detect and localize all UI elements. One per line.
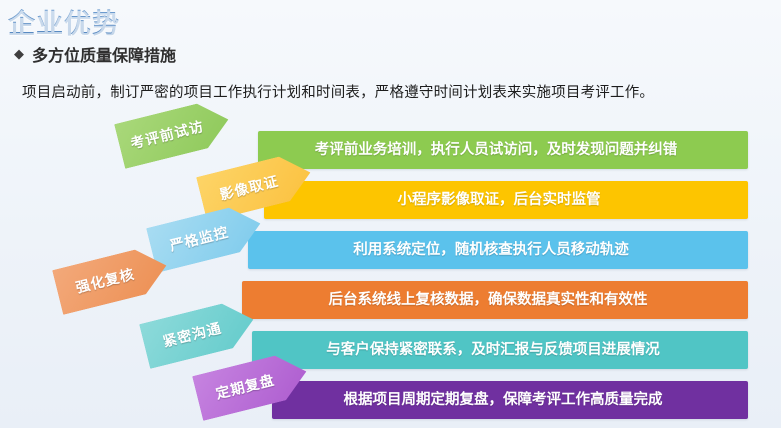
- slide-canvas: 企业优势 ◆ 多方位质量保障措施 项目启动前，制订严密的项目工作执行计划和时间表…: [0, 0, 781, 428]
- step-row[interactable]: 小程序影像取证，后台实时监管: [264, 181, 748, 219]
- step-tag[interactable]: 强化复核: [52, 243, 172, 315]
- diamond-bullet-icon: ◆: [14, 48, 24, 61]
- step-row[interactable]: 考评前业务培训，执行人员试访问，及时发现问题并纠错: [258, 131, 748, 169]
- step-row-text: 与客户保持紧密联系，及时汇报与反馈项目进展情况: [252, 331, 734, 369]
- step-tag[interactable]: 考评前试访: [114, 97, 234, 169]
- arrow-shape-icon: [52, 243, 172, 315]
- step-row[interactable]: 后台系统线上复核数据，确保数据真实性和有效性: [242, 281, 748, 319]
- subhead-text: 多方位质量保障措施: [32, 42, 176, 66]
- page-title: 企业优势: [8, 2, 120, 41]
- step-row[interactable]: 与客户保持紧密联系，及时汇报与反馈项目进展情况: [252, 331, 748, 369]
- step-tag[interactable]: 紧密沟通: [139, 297, 259, 369]
- step-row[interactable]: 利用系统定位，随机核查执行人员移动轨迹: [248, 231, 748, 269]
- arrow-shape-icon: [114, 97, 234, 169]
- step-row-text: 小程序影像取证，后台实时监管: [264, 181, 734, 219]
- step-row-text: 利用系统定位，随机核查执行人员移动轨迹: [248, 231, 734, 269]
- subhead-row: ◆ 多方位质量保障措施: [14, 42, 176, 66]
- step-row-text: 根据项目周期定期复盘，保障考评工作高质量完成: [272, 381, 734, 419]
- lead-paragraph: 项目启动前，制订严密的项目工作执行计划和时间表，严格遵守时间计划表来实施项目考评…: [22, 81, 654, 102]
- arrow-shape-icon: [139, 297, 259, 369]
- step-row-text: 后台系统线上复核数据，确保数据真实性和有效性: [242, 281, 734, 319]
- step-row[interactable]: 根据项目周期定期复盘，保障考评工作高质量完成: [272, 381, 748, 419]
- step-row-text: 考评前业务培训，执行人员试访问，及时发现问题并纠错: [258, 131, 734, 169]
